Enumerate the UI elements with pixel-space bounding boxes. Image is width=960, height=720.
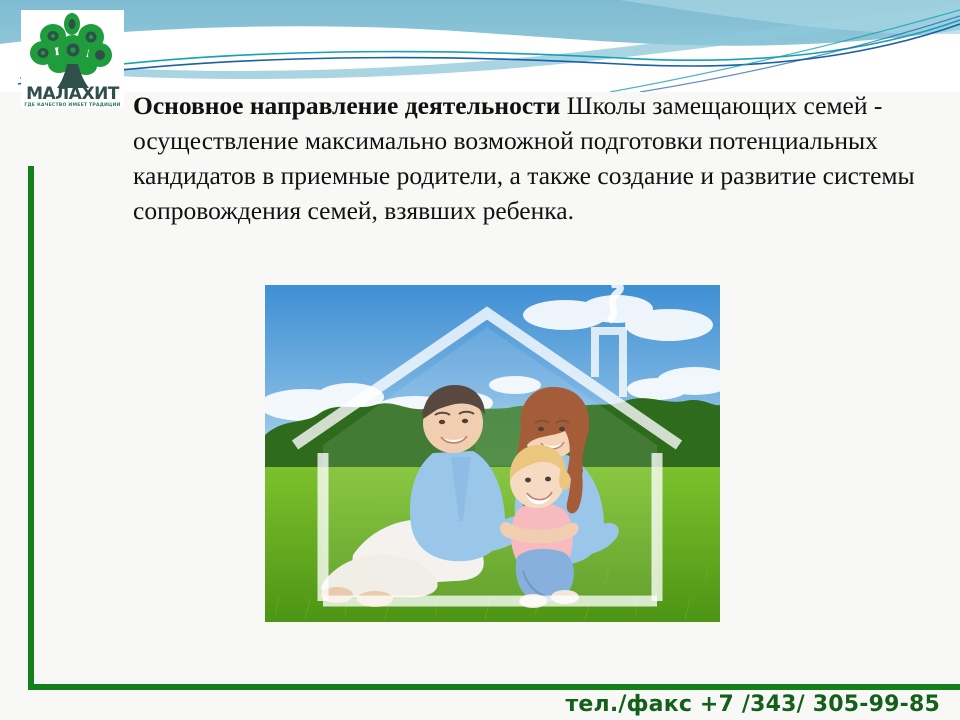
wave-svg [0,0,960,92]
tree-icon [21,12,124,90]
slide-body-text: Основное направление деятельности Школы … [133,88,923,228]
logo: МАЛАХИТ ГДЕ КАЧЕСТВО ИМЕЕТ ТРАДИЦИИ [21,10,124,108]
body-lead: Основное направление деятельности [133,91,560,120]
green-frame-vertical [28,166,34,690]
family-photo [265,285,720,622]
presentation-slide: МАЛАХИТ ГДЕ КАЧЕСТВО ИМЕЕТ ТРАДИЦИИ Осно… [0,0,960,720]
header-wave-decoration [0,0,960,92]
logo-wordmark: МАЛАХИТ [21,86,124,103]
footer-phone: тел./факс +7 /343/ 305-99-85 [0,692,940,717]
logo-tagline: ГДЕ КАЧЕСТВО ИМЕЕТ ТРАДИЦИИ [21,103,124,108]
green-frame-horizontal [28,684,960,690]
family-photo-svg [265,285,720,622]
